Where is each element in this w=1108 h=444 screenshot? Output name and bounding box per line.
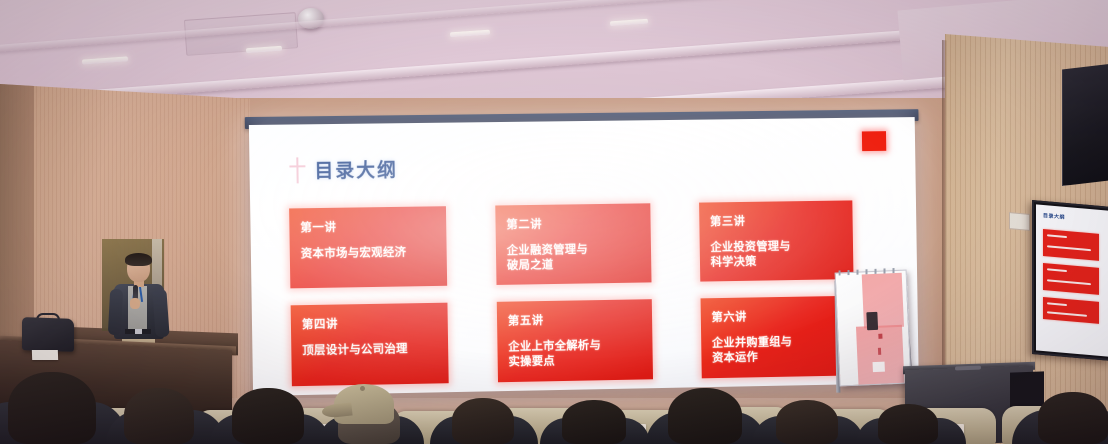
- flipchart-mark: [878, 334, 882, 339]
- card-text: 企业融资管理与 破局之道: [507, 242, 641, 273]
- card-number: 第四讲: [302, 314, 437, 332]
- outline-card: 第二讲 企业融资管理与 破局之道: [495, 203, 651, 285]
- speaker-arm: [108, 289, 123, 336]
- card-number: 第五讲: [508, 311, 642, 329]
- audience-head: [668, 388, 742, 444]
- card-number: 第六讲: [711, 307, 843, 325]
- side-monitor-card: [1043, 229, 1099, 261]
- outline-card: 第一讲 资本市场与宏观经济: [289, 206, 447, 289]
- audience-head: [776, 400, 838, 444]
- card-number: 第一讲: [300, 217, 435, 235]
- side-monitor-card: [1043, 297, 1099, 324]
- wall-monitor-off: [1062, 62, 1108, 186]
- card-number: 第二讲: [506, 214, 640, 232]
- cap-button: [360, 386, 365, 391]
- presentation-room-photo: 目录大纲 第一讲 资本市场与宏观经济 第二讲 企业融资管理与 破局之道: [0, 0, 1108, 444]
- audience-head: [232, 388, 304, 444]
- cross-deco-icon: [289, 157, 305, 183]
- side-monitor-title: 目录大纲: [1043, 212, 1065, 221]
- cap-brim: [321, 402, 352, 418]
- speaker-hair: [125, 253, 152, 266]
- side-monitor: 目录大纲: [1032, 200, 1108, 361]
- audience: [0, 352, 1108, 444]
- side-monitor-line: [1047, 311, 1087, 316]
- card-number: 第三讲: [710, 211, 842, 229]
- card-text: 资本市场与宏观经济: [301, 245, 436, 262]
- audience-head: [562, 400, 626, 444]
- speaker-belt-buckle: [135, 329, 142, 334]
- slide-title-row: 目录大纲: [289, 155, 398, 183]
- flipchart-mark: [866, 312, 878, 330]
- audience-head: [452, 398, 514, 444]
- card-line: 资本市场与宏观经济: [301, 245, 436, 262]
- audience-head: [878, 404, 938, 444]
- side-monitor-card: [1043, 263, 1099, 295]
- speaker-arm: [152, 289, 169, 338]
- card-line: 破局之道: [507, 257, 641, 274]
- audience-head: [8, 372, 96, 444]
- slide-corner-mark: [862, 131, 886, 151]
- side-monitor-line: [1047, 302, 1067, 306]
- card-text: 企业投资管理与 科学决策: [710, 239, 842, 270]
- side-monitor-line: [1047, 268, 1067, 272]
- wall-plate: [1009, 212, 1030, 231]
- side-monitor-screen: 目录大纲: [1036, 204, 1108, 356]
- card-line: 科学决策: [711, 253, 843, 270]
- side-monitor-line: [1047, 245, 1091, 251]
- side-monitor-line: [1047, 234, 1067, 238]
- slide-title: 目录大纲: [314, 155, 398, 183]
- side-monitor-line: [1047, 279, 1091, 285]
- audience-head: [124, 388, 194, 444]
- speaker-hand: [130, 298, 140, 309]
- laptop-bag: [22, 317, 74, 352]
- audience-head: [1038, 392, 1108, 444]
- baseball-cap: [334, 384, 394, 424]
- outline-card: 第三讲 企业投资管理与 科学决策: [699, 200, 853, 282]
